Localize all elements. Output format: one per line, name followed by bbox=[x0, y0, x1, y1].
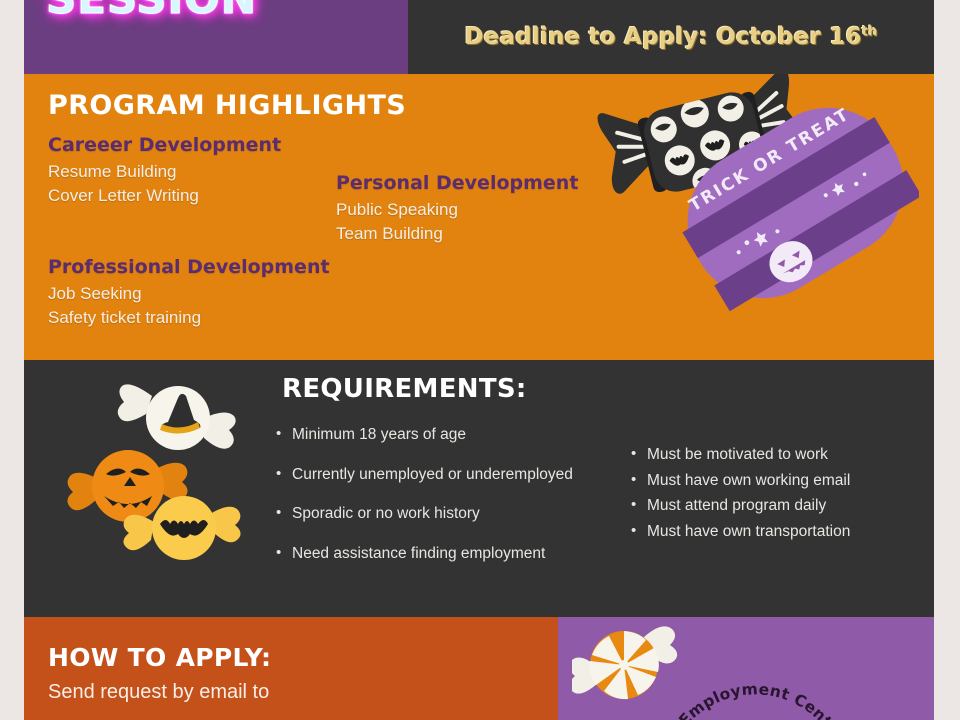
deadline-panel: Deadline to Apply: October 16th bbox=[408, 0, 934, 74]
title-panel: SESSION bbox=[24, 0, 408, 74]
logo-arc-text: 's Employment Centre bbox=[662, 680, 847, 720]
page-title: SESSION bbox=[46, 0, 257, 23]
highlight-item: Cover Letter Writing bbox=[48, 184, 281, 208]
employment-centre-logo: 's Employment Centre bbox=[650, 645, 860, 720]
apply-instruction-text: Send request by email to bbox=[48, 681, 269, 704]
candy-cluster-icon bbox=[44, 374, 274, 564]
logo-panel: 's Employment Centre bbox=[558, 617, 934, 720]
requirement-item: Must have own transportation bbox=[629, 523, 929, 542]
highlight-group-heading: Professional Development bbox=[48, 256, 330, 278]
requirement-item: Currently unemployed or underemployed bbox=[274, 466, 614, 485]
requirement-item: Sporadic or no work history bbox=[274, 505, 614, 524]
requirement-item: Must be motivated to work bbox=[629, 446, 929, 465]
requirement-item: Must attend program daily bbox=[629, 497, 929, 516]
header-row: SESSION Deadline to Apply: October 16th bbox=[24, 0, 934, 74]
requirements-title: REQUIREMENTS: bbox=[282, 374, 527, 404]
requirements-section: REQUIREMENTS: Minimum 18 years of age Cu… bbox=[24, 360, 934, 617]
highlight-item: Team Building bbox=[336, 222, 578, 246]
purple-candy-icon: TRICK OR TREAT bbox=[679, 99, 919, 319]
highlight-group-heading: Personal Development bbox=[336, 172, 578, 194]
highlight-group-heading: Careeer Development bbox=[48, 134, 281, 156]
requirements-left-column: Minimum 18 years of age Currently unempl… bbox=[274, 426, 614, 584]
deadline-label: Deadline to Apply: October 16 bbox=[464, 24, 861, 50]
requirements-right-column: Must be motivated to work Must have own … bbox=[629, 446, 929, 548]
apply-instructions-panel: HOW TO APPLY: Send request by email to bbox=[24, 617, 558, 720]
highlight-item: Safety ticket training bbox=[48, 306, 330, 330]
highlight-group-career: Careeer Development Resume Building Cove… bbox=[48, 134, 281, 208]
deadline-ordinal: th bbox=[862, 24, 878, 39]
highlight-item: Resume Building bbox=[48, 160, 281, 184]
poster-canvas: SESSION Deadline to Apply: October 16th … bbox=[0, 0, 960, 720]
witch-hat-candy-icon bbox=[118, 384, 236, 450]
requirement-item: Need assistance finding employment bbox=[274, 545, 614, 564]
program-highlights-section: PROGRAM HIGHLIGHTS Careeer Development R… bbox=[24, 74, 934, 360]
highlight-item: Public Speaking bbox=[336, 198, 578, 222]
highlight-item: Job Seeking bbox=[48, 282, 330, 306]
program-highlights-title: PROGRAM HIGHLIGHTS bbox=[48, 90, 406, 121]
how-to-apply-section: HOW TO APPLY: Send request by email to bbox=[24, 617, 934, 720]
highlight-group-personal: Personal Development Public Speaking Tea… bbox=[336, 172, 578, 246]
requirement-item: Must have own working email bbox=[629, 472, 929, 491]
requirement-item: Minimum 18 years of age bbox=[274, 426, 614, 445]
deadline-text: Deadline to Apply: October 16th bbox=[464, 24, 877, 50]
highlight-group-professional: Professional Development Job Seeking Saf… bbox=[48, 256, 330, 330]
how-to-apply-title: HOW TO APPLY: bbox=[48, 643, 271, 672]
